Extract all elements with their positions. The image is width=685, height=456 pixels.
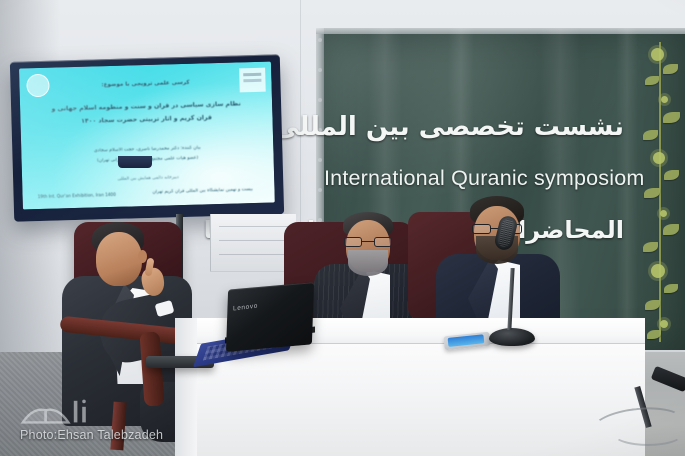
floral-vine-icon bbox=[639, 42, 683, 342]
iqna-logo-icon bbox=[18, 396, 90, 426]
press-photo: نشست تخصصی بین المللی وبیناری Internatio… bbox=[0, 0, 685, 456]
banner-title-english: International Quranic symposiom bbox=[324, 166, 624, 191]
tv-screen: کرسی علمی ترویجی با موضوع: نظام سازی سیا… bbox=[19, 62, 275, 210]
banner-title-persian: نشست تخصصی بین المللی وبیناری bbox=[324, 112, 624, 142]
laptop-lid bbox=[226, 282, 314, 352]
beard bbox=[348, 250, 388, 276]
tv-bezel: کرسی علمی ترویجی با موضوع: نظام سازی سیا… bbox=[10, 54, 284, 221]
tv-mount-neck bbox=[118, 156, 152, 168]
microphone-base bbox=[489, 328, 535, 346]
face bbox=[96, 232, 142, 286]
slide-line-1: کرسی علمی ترویجی با موضوع: bbox=[40, 78, 252, 90]
cable bbox=[612, 420, 684, 446]
photo-credit: Photo:Ehsan Talebzadeh bbox=[20, 428, 163, 442]
ear bbox=[138, 250, 147, 263]
slide-line-3: قرآن کریم و آثار تربیتی حضرت سجاد ١۴٠٠ bbox=[41, 113, 253, 126]
slide-line-4: بیان کننده: دکتر محمدرضا ناصری، حجت الاس… bbox=[41, 144, 253, 155]
watermark: Photo:Ehsan Talebzadeh bbox=[18, 396, 218, 450]
slide-line-6: دبیرخانه دائمی همایش بین المللی bbox=[42, 173, 254, 184]
laptop[interactable]: Lenovo bbox=[197, 286, 315, 364]
slide-footer-english: 19th Int. Qur'an Exhibition, Iran 1400 bbox=[38, 191, 144, 199]
slide-footer-persian: بیست و نهمین نمایشگاه بین المللی قرآن کر… bbox=[143, 187, 262, 195]
slide-line-2: نظام سازی سیاسی در قرآن و سنت و منظومه ا… bbox=[40, 100, 252, 113]
eyeglasses-icon bbox=[344, 237, 392, 247]
wall-mounted-television[interactable]: کرسی علمی ترویجی با موضوع: نظام سازی سیا… bbox=[10, 54, 284, 221]
